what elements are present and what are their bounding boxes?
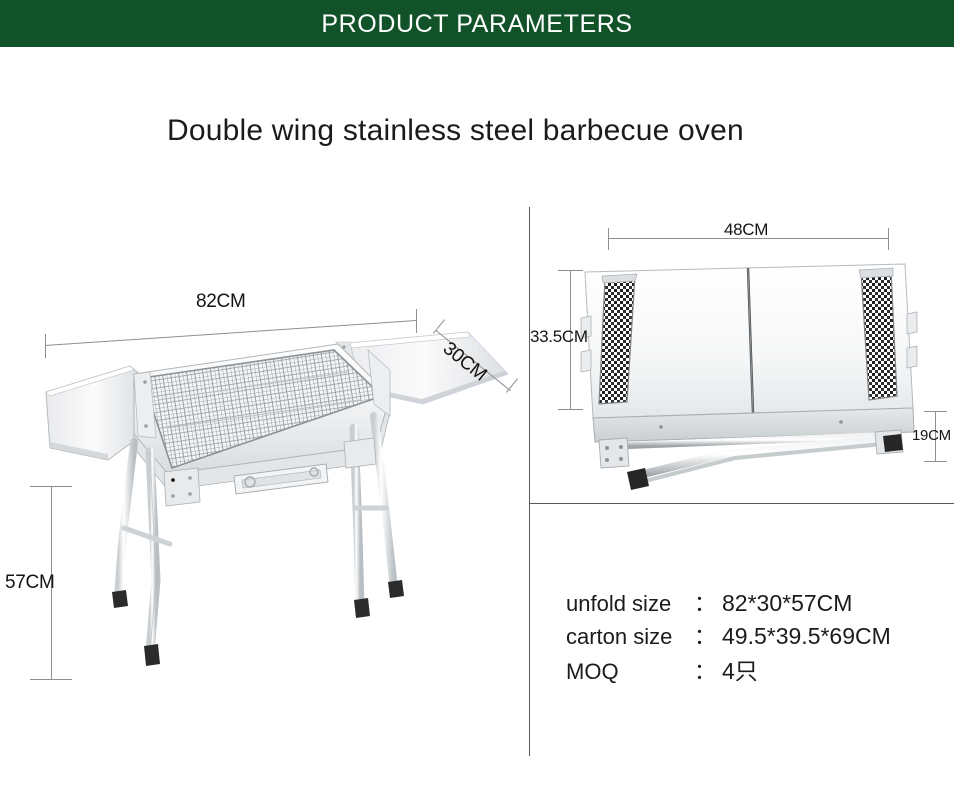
spec-row-carton-size: carton size ： 49.5*39.5*69CM bbox=[566, 619, 891, 652]
spec-key-unfold-size: unfold size bbox=[566, 591, 688, 617]
horizontal-divider bbox=[529, 503, 954, 504]
product-title: Double wing stainless steel barbecue ove… bbox=[167, 114, 744, 148]
banner-title: PRODUCT PARAMETERS bbox=[0, 2, 954, 46]
spec-value-moq: 4只 bbox=[722, 652, 758, 686]
unfolded-barbecue-grill-photo bbox=[38, 330, 528, 700]
dimension-tick-top-57 bbox=[30, 486, 72, 487]
dimension-tick-right-82 bbox=[416, 309, 417, 333]
spec-value-unfold-size: 82*30*57CM bbox=[722, 590, 852, 617]
spec-key-carton-size: carton size bbox=[566, 624, 688, 650]
spec-colon-carton-size: ： bbox=[688, 619, 722, 651]
dimension-label-height-57: 57CM bbox=[5, 572, 54, 594]
dimension-label-width-82: 82CM bbox=[196, 291, 245, 313]
dimension-tick-top-19 bbox=[924, 411, 947, 412]
page-banner: PRODUCT PARAMETERS bbox=[0, 0, 954, 47]
spec-value-carton-size: 49.5*39.5*69CM bbox=[722, 623, 891, 650]
dimension-tick-bottom-19 bbox=[924, 461, 947, 462]
dimension-tick-top-335 bbox=[558, 270, 583, 271]
folded-barbecue-grill-photo bbox=[575, 250, 920, 490]
dimension-label-thickness-19: 19CM bbox=[912, 427, 951, 444]
left-wing-tray bbox=[46, 366, 142, 460]
spec-row-moq: MOQ ： 4只 bbox=[566, 652, 891, 685]
dimension-tick-right-48 bbox=[888, 228, 889, 250]
dimension-tick-left-48 bbox=[608, 228, 609, 250]
dimension-tick-bottom-57 bbox=[30, 679, 72, 680]
dimension-tick-left-82 bbox=[45, 334, 46, 358]
spec-colon-moq: ： bbox=[688, 654, 722, 686]
spec-colon-unfold-size: ： bbox=[688, 586, 722, 618]
dimension-tick-bottom-335 bbox=[558, 409, 583, 410]
spec-row-unfold-size: unfold size ： 82*30*57CM bbox=[566, 586, 891, 619]
vertical-divider bbox=[529, 207, 530, 756]
dimension-label-width-48: 48CM bbox=[724, 220, 768, 240]
dimension-label-height-335: 33.5CM bbox=[530, 327, 588, 347]
specification-list: unfold size ： 82*30*57CM carton size ： 4… bbox=[566, 586, 891, 685]
spec-key-moq: MOQ bbox=[566, 659, 688, 685]
